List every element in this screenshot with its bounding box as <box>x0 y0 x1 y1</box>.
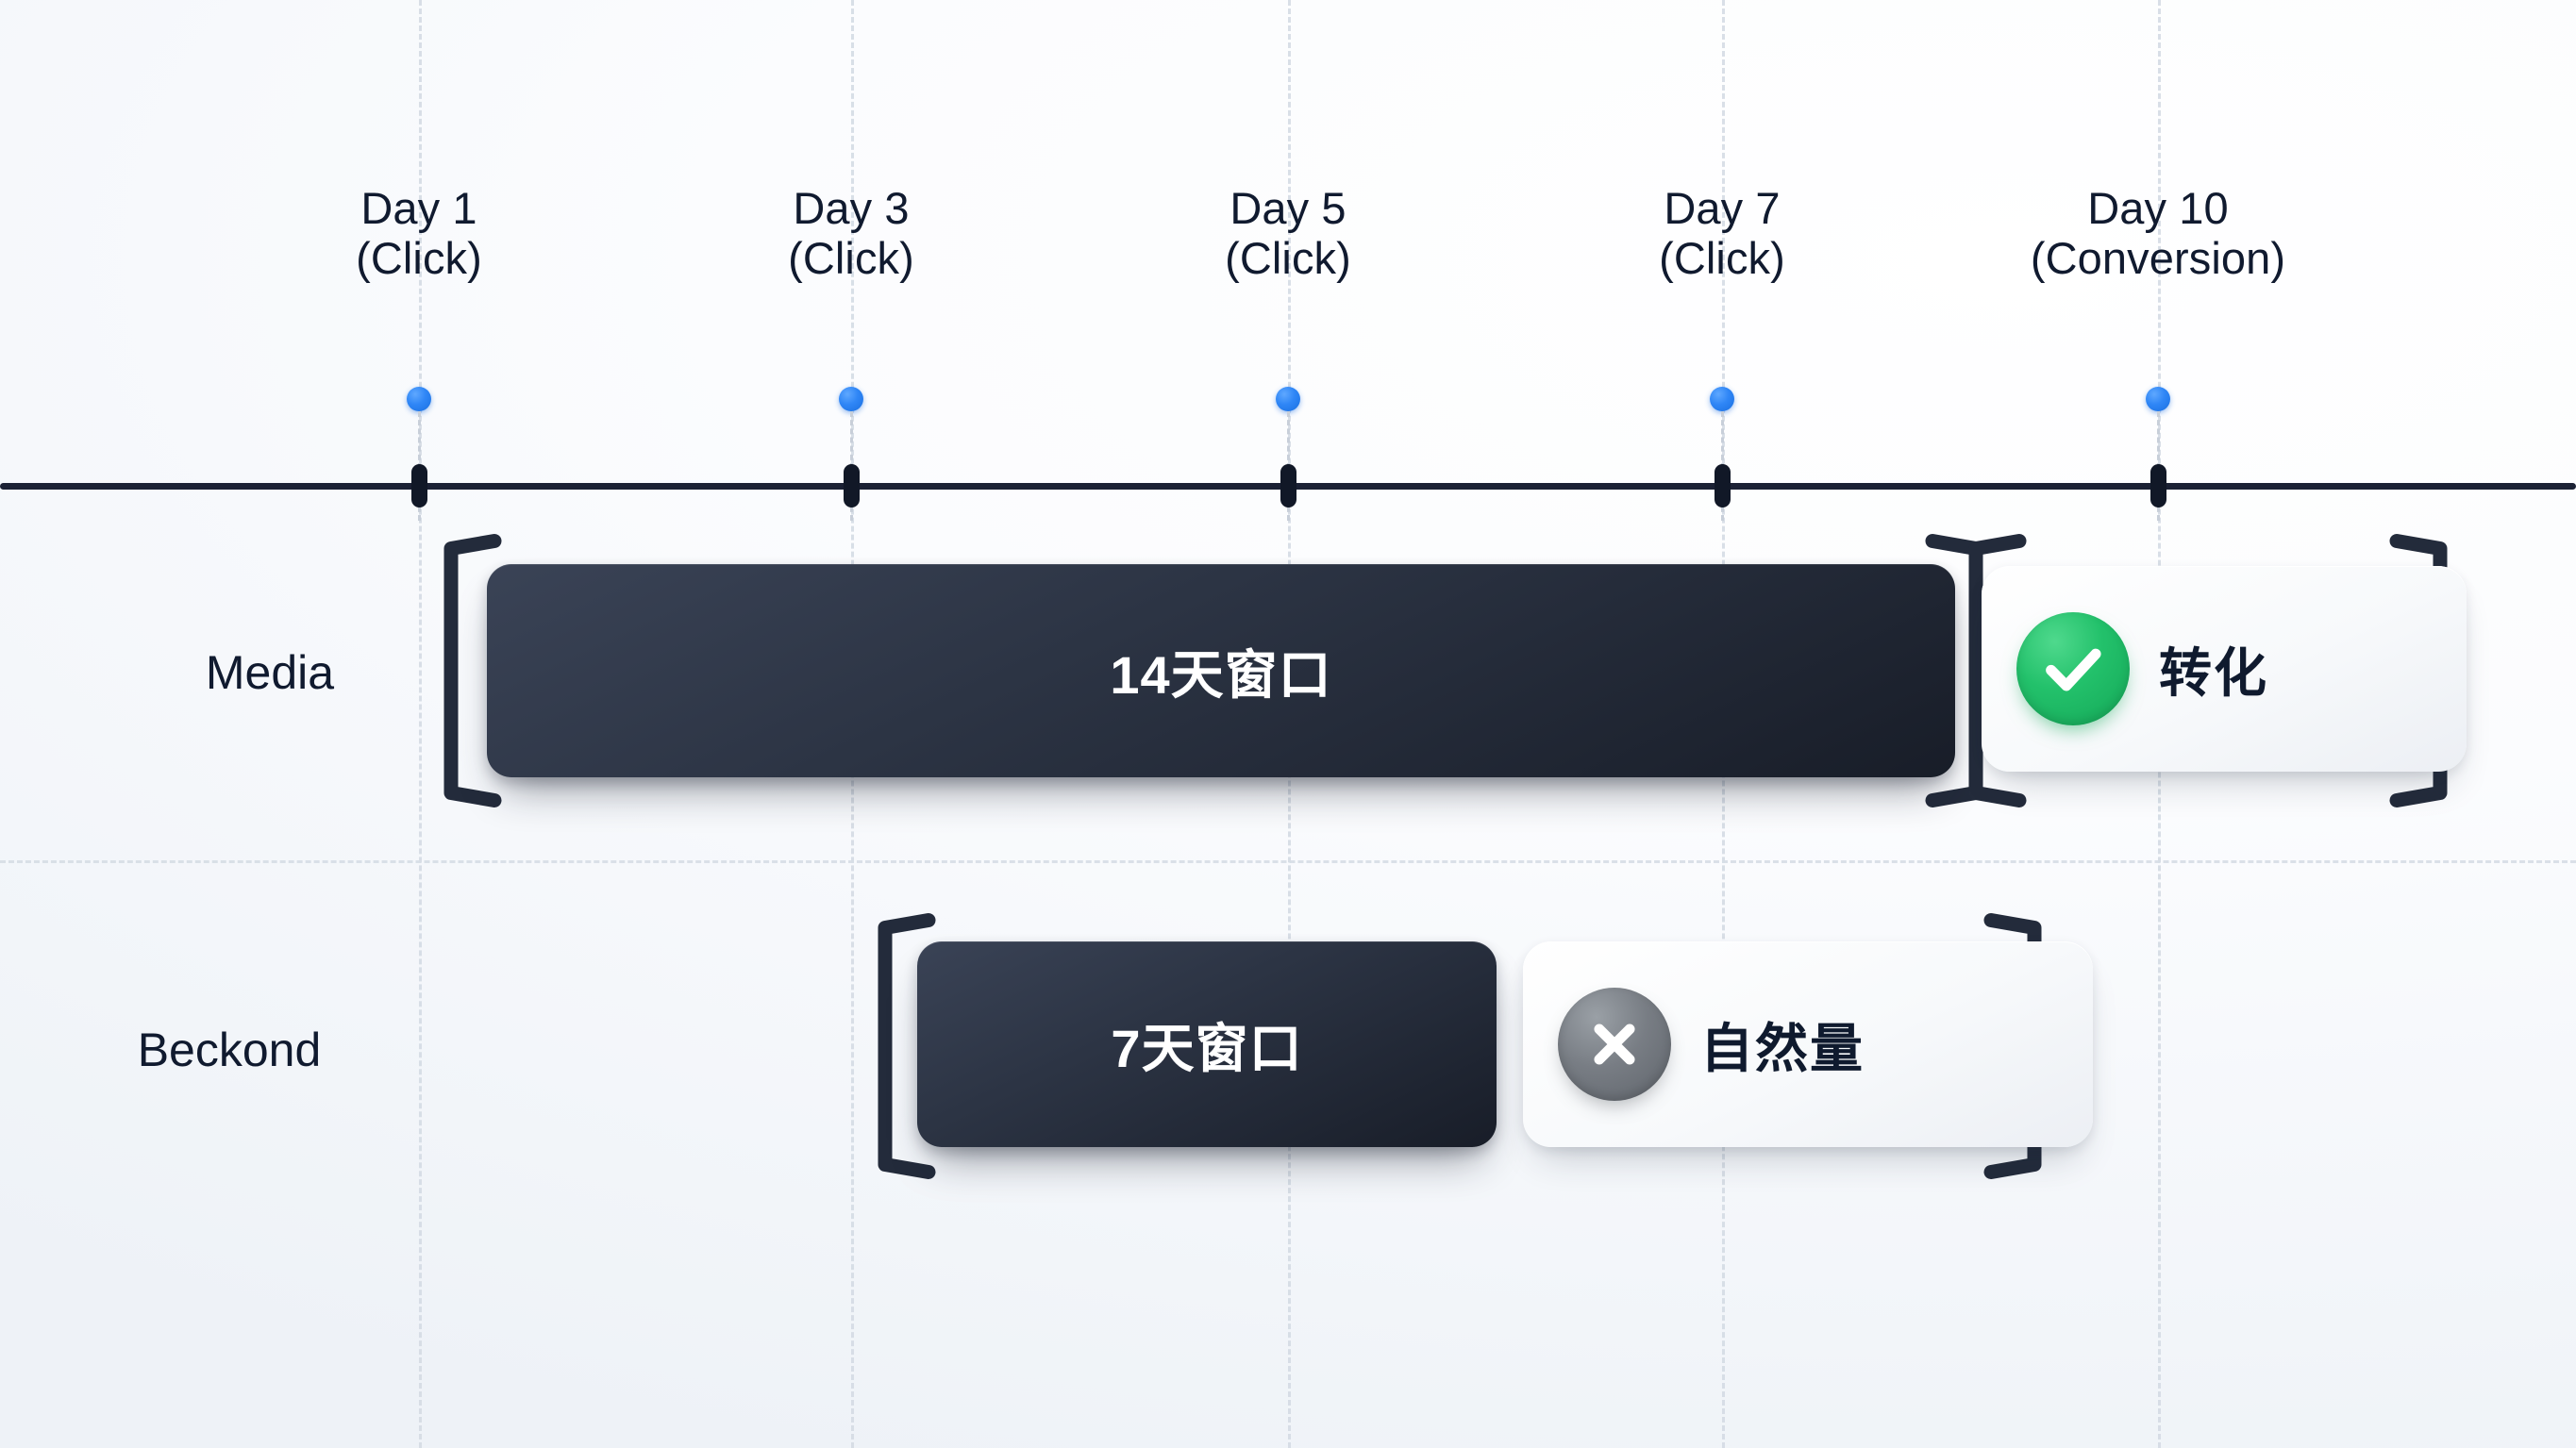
timeline-label-day-10: Day 10(Conversion) <box>2031 184 2285 283</box>
day-number-label: Day 3 <box>793 183 909 233</box>
event-type-label: (Click) <box>356 234 482 284</box>
x-circle-icon <box>1558 988 1671 1101</box>
status-chip-label: 自然量 <box>1700 1007 1865 1083</box>
axis-tick-day-3 <box>844 464 860 508</box>
day-number-label: Day 1 <box>360 183 477 233</box>
timeline-label-day-5: Day 5(Click) <box>1225 184 1351 283</box>
event-dot-day-7[interactable] <box>1710 387 1734 411</box>
timeline-label-day-7: Day 7(Click) <box>1659 184 1785 283</box>
row-divider-line <box>0 860 2576 863</box>
axis-tick-day-7 <box>1715 464 1731 508</box>
window-bar-label: 7天窗口 <box>1111 1007 1302 1083</box>
status-chip-media-conversion[interactable]: 转化 <box>1982 566 2467 772</box>
day-number-label: Day 5 <box>1229 183 1346 233</box>
status-chip-label: 转化 <box>2159 631 2268 707</box>
event-dot-day-5[interactable] <box>1276 387 1300 411</box>
event-dot-day-1[interactable] <box>407 387 431 411</box>
attribution-window-bar-beckond-window[interactable]: 7天窗口 <box>917 941 1497 1147</box>
event-type-label: (Click) <box>788 234 914 284</box>
bracket-open-beckond-window <box>857 911 913 1181</box>
attribution-window-diagram: Day 1(Click)Day 3(Click)Day 5(Click)Day … <box>0 0 2576 1448</box>
row-label-beckond: Beckond <box>138 1023 322 1077</box>
event-type-label: (Click) <box>1659 234 1785 284</box>
axis-tick-day-10 <box>2150 464 2166 508</box>
axis-tick-day-1 <box>411 464 427 508</box>
event-type-label: (Conversion) <box>2031 234 2285 284</box>
window-bar-label: 14天窗口 <box>1110 633 1331 709</box>
timeline-label-day-3: Day 3(Click) <box>788 184 914 283</box>
day-number-label: Day 7 <box>1664 183 1780 233</box>
event-type-label: (Click) <box>1225 234 1351 284</box>
check-circle-icon <box>2016 612 2130 725</box>
status-chip-beckond-organic[interactable]: 自然量 <box>1523 941 2093 1147</box>
bracket-open-media-window <box>423 532 479 809</box>
row-label-media: Media <box>206 645 334 700</box>
axis-tick-day-5 <box>1280 464 1296 508</box>
attribution-window-bar-media-window[interactable]: 14天窗口 <box>487 564 1955 777</box>
timeline-label-day-1: Day 1(Click) <box>356 184 482 283</box>
day-number-label: Day 10 <box>2087 183 2229 233</box>
event-dot-day-10[interactable] <box>2146 387 2170 411</box>
event-dot-day-3[interactable] <box>839 387 863 411</box>
